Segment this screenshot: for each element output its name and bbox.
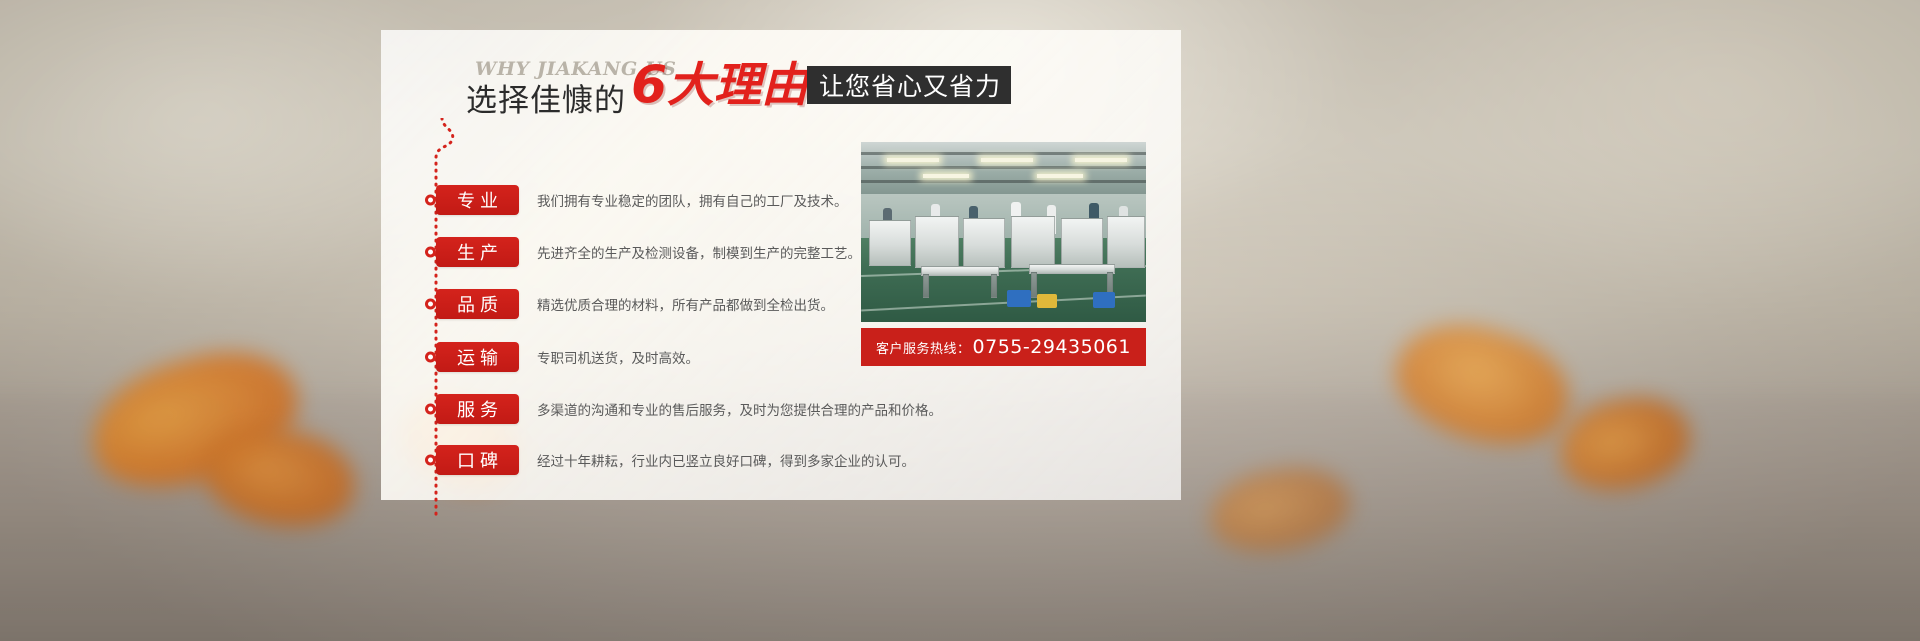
photo-machine (1107, 216, 1145, 268)
photo-ceiling-beam (861, 180, 1146, 183)
list-item[interactable]: 服务 多渠道的沟通和专业的售后服务，及时为您提供合理的产品和价格。 (436, 394, 942, 424)
hotline-number: 0755-29435061 (973, 336, 1131, 358)
photo-ceiling-lamp (981, 158, 1033, 162)
timeline-node-icon (425, 404, 436, 415)
factory-photo (861, 142, 1146, 322)
photo-machine (963, 218, 1005, 268)
photo-worktable (1029, 264, 1115, 274)
photo-blue-bin (1093, 292, 1115, 308)
reason-description: 经过十年耕耘，行业内已竖立良好口碑，得到多家企业的认可。 (537, 450, 915, 470)
photo-table-leg (923, 274, 929, 298)
photo-machine (915, 216, 959, 268)
timeline-node-icon (425, 352, 436, 363)
photo-machine (869, 220, 911, 266)
reason-badge: 专业 (436, 185, 519, 215)
photo-table-leg (1031, 272, 1037, 298)
photo-ceiling (861, 142, 1146, 200)
reason-badge: 生产 (436, 237, 519, 267)
list-item[interactable]: 专业 我们拥有专业稳定的团队，拥有自己的工厂及技术。 (436, 185, 848, 215)
reason-description: 多渠道的沟通和专业的售后服务，及时为您提供合理的产品和价格。 (537, 399, 942, 419)
list-item[interactable]: 生产 先进齐全的生产及检测设备，制模到生产的完整工艺。 (436, 237, 861, 267)
photo-ceiling-beam (861, 166, 1146, 169)
reason-description: 精选优质合理的材料，所有产品都做到全检出货。 (537, 294, 834, 314)
photo-machine (1061, 218, 1103, 268)
photo-blue-bin (1007, 290, 1031, 307)
list-item[interactable]: 品质 精选优质合理的材料，所有产品都做到全检出货。 (436, 289, 834, 319)
photo-ceiling-beam (861, 152, 1146, 155)
photo-yellow-bin (1037, 294, 1057, 308)
list-item[interactable]: 口碑 经过十年耕耘，行业内已竖立良好口碑，得到多家企业的认可。 (436, 445, 915, 475)
reason-badge: 口碑 (436, 445, 519, 475)
hotline-label: 客户服务热线： (876, 338, 971, 357)
list-item[interactable]: 运输 专职司机送货，及时高效。 (436, 342, 699, 372)
timeline-node-icon (425, 247, 436, 258)
photo-ceiling-lamp (1037, 174, 1083, 178)
photo-table-leg (991, 274, 997, 298)
reason-description: 专职司机送货，及时高效。 (537, 347, 699, 367)
reason-badge: 运输 (436, 342, 519, 372)
timeline-node-icon (425, 455, 436, 466)
photo-ceiling-lamp (1075, 158, 1127, 162)
hotline-bar: 客户服务热线： 0755-29435061 (861, 328, 1146, 366)
reason-description: 先进齐全的生产及检测设备，制模到生产的完整工艺。 (537, 242, 861, 262)
timeline-node-icon (425, 299, 436, 310)
reason-badge: 品质 (436, 289, 519, 319)
photo-ceiling-lamp (923, 174, 969, 178)
content-card: WHY JIAKANG US 选择佳慷的 6 大理由 让您省心又省力 专业 我们… (381, 30, 1181, 500)
reason-description: 我们拥有专业稳定的团队，拥有自己的工厂及技术。 (537, 190, 848, 210)
photo-ceiling-lamp (887, 158, 939, 162)
reason-badge: 服务 (436, 394, 519, 424)
photo-worktable (921, 266, 999, 276)
photo-machine (1011, 216, 1055, 268)
timeline-node-icon (425, 195, 436, 206)
